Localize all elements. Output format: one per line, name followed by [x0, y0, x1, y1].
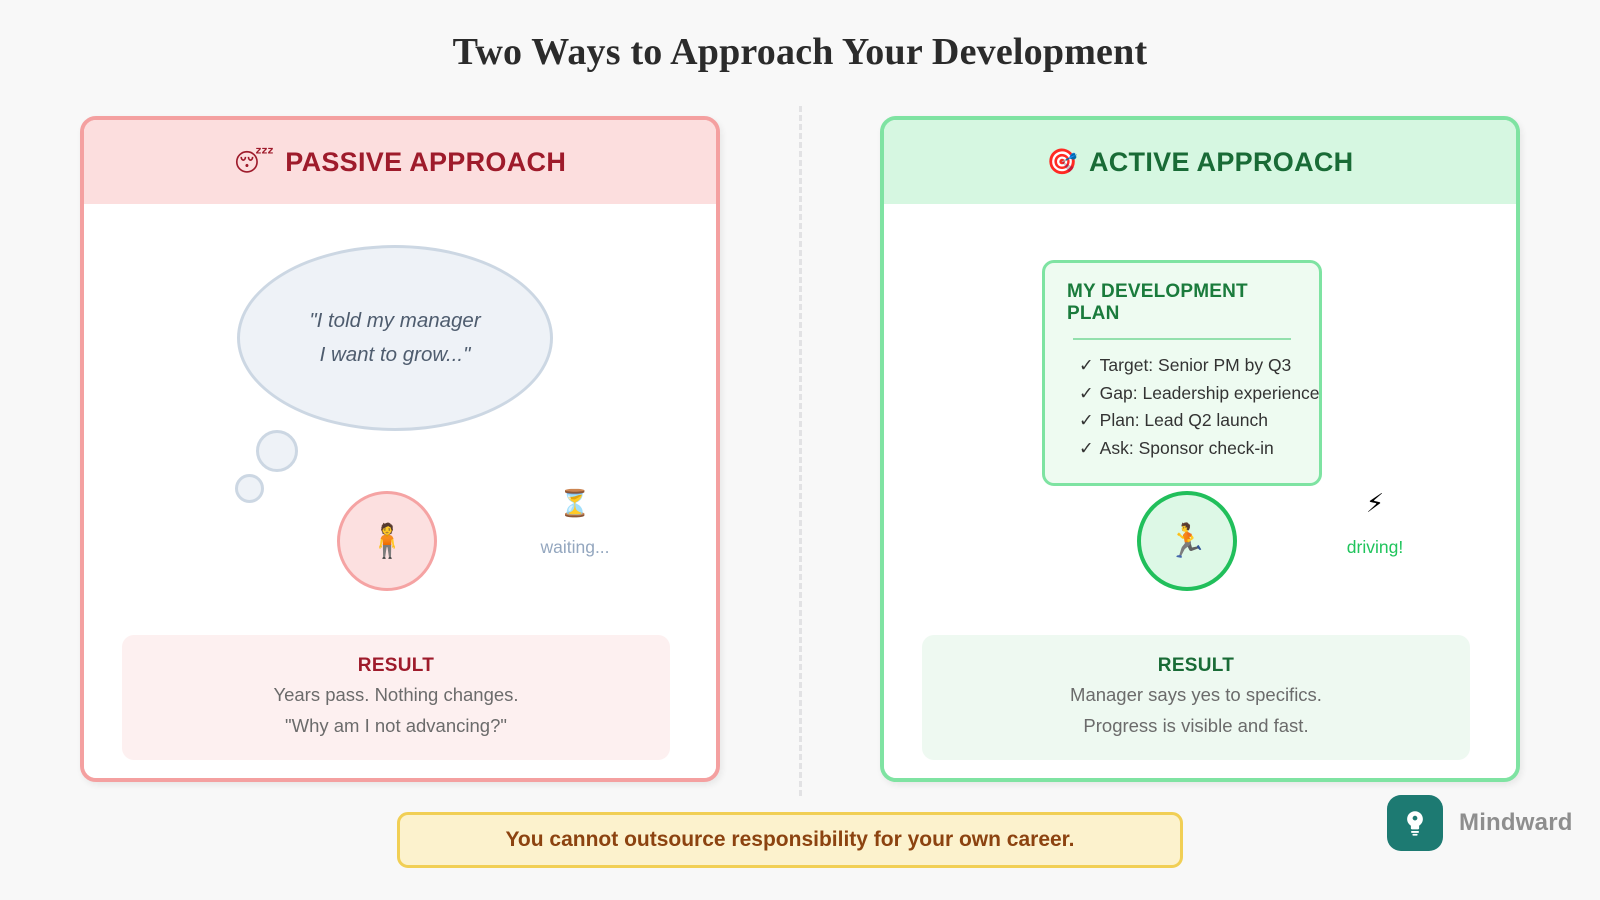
passive-state-badge: ⏳ waiting... [515, 490, 635, 558]
list-item-label: Ask: Sponsor check-in [1100, 438, 1274, 458]
panel-active-title: ACTIVE APPROACH [1089, 147, 1354, 178]
brand-mark [1387, 795, 1443, 851]
lightbulb-icon [1400, 808, 1430, 838]
target-emoji: 🎯 [1047, 147, 1078, 177]
result-box-passive: RESULT Years pass. Nothing changes. "Why… [122, 635, 670, 760]
passive-actor-row: 🧍 ⏳ waiting... [84, 491, 716, 591]
list-item-label: Target: Senior PM by Q3 [1100, 355, 1292, 375]
development-plan-title: MY DEVELOPMENT PLAN [1065, 281, 1299, 325]
list-item: ✓Ask: Sponsor check-in [1079, 435, 1299, 463]
result-box-active: RESULT Manager says yes to specifics. Pr… [922, 635, 1470, 760]
result-passive-title: RESULT [138, 655, 654, 677]
result-active-title: RESULT [938, 655, 1454, 677]
list-item-label: Plan: Lead Q2 launch [1100, 410, 1268, 430]
avatar-passive: 🧍 [337, 491, 437, 591]
development-plan-list: ✓Target: Senior PM by Q3 ✓Gap: Leadershi… [1065, 352, 1299, 463]
avatar-active: 🏃 [1137, 491, 1237, 591]
list-item: ✓Plan: Lead Q2 launch [1079, 407, 1299, 435]
brand-name: Mindward [1459, 809, 1573, 837]
standing-person-emoji: 🧍 [366, 521, 407, 561]
active-state-badge: ⚡ driving! [1315, 490, 1435, 558]
panel-passive-title: PASSIVE APPROACH [285, 147, 566, 178]
slide-canvas: Two Ways to Approach Your Development 😴 … [0, 0, 1600, 900]
result-active-line-2: Progress is visible and fast. [938, 714, 1454, 738]
brand-logo: Mindward [1387, 795, 1573, 851]
passive-state-label: waiting... [515, 537, 635, 558]
check-icon: ✓ [1079, 355, 1094, 375]
thought-bubble-line-1: "I told my manager [309, 304, 480, 338]
panel-active-body: MY DEVELOPMENT PLAN ✓Target: Senior PM b… [884, 204, 1516, 778]
thought-bubble-line-2: I want to grow..." [320, 338, 471, 372]
development-plan-divider [1073, 338, 1291, 340]
sleeping-face-emoji: 😴 [234, 148, 274, 177]
thought-bubble: "I told my manager I want to grow..." [237, 245, 553, 431]
panel-passive-approach: 😴 PASSIVE APPROACH "I told my manager I … [80, 116, 720, 782]
list-item: ✓Gap: Leadership experience [1079, 380, 1299, 408]
panel-passive-header: 😴 PASSIVE APPROACH [84, 120, 716, 204]
development-plan-card: MY DEVELOPMENT PLAN ✓Target: Senior PM b… [1042, 260, 1322, 486]
check-icon: ✓ [1079, 383, 1094, 403]
panel-divider [799, 106, 802, 796]
result-active-line-1: Manager says yes to specifics. [938, 683, 1454, 707]
list-item: ✓Target: Senior PM by Q3 [1079, 352, 1299, 380]
panel-active-approach: 🎯 ACTIVE APPROACH MY DEVELOPMENT PLAN ✓T… [880, 116, 1520, 782]
active-state-label: driving! [1315, 537, 1435, 558]
check-icon: ✓ [1079, 410, 1094, 430]
result-passive-line-1: Years pass. Nothing changes. [138, 683, 654, 707]
active-actor-row: 🏃 ⚡ driving! [884, 491, 1516, 591]
check-icon: ✓ [1079, 438, 1094, 458]
panel-active-header: 🎯 ACTIVE APPROACH [884, 120, 1516, 204]
callout-text: You cannot outsource responsibility for … [505, 828, 1074, 852]
hourglass-icon: ⏳ [515, 490, 635, 519]
list-item-label: Gap: Leadership experience [1100, 383, 1320, 403]
panel-passive-body: "I told my manager I want to grow..." 🧍 … [84, 204, 716, 778]
running-person-emoji: 🏃 [1166, 521, 1207, 561]
result-passive-line-2: "Why am I not advancing?" [138, 714, 654, 738]
lightning-bolt-icon: ⚡ [1315, 490, 1435, 519]
thought-bubble-dot-large [256, 430, 298, 472]
callout-banner: You cannot outsource responsibility for … [397, 812, 1183, 868]
page-title: Two Ways to Approach Your Development [0, 30, 1600, 74]
